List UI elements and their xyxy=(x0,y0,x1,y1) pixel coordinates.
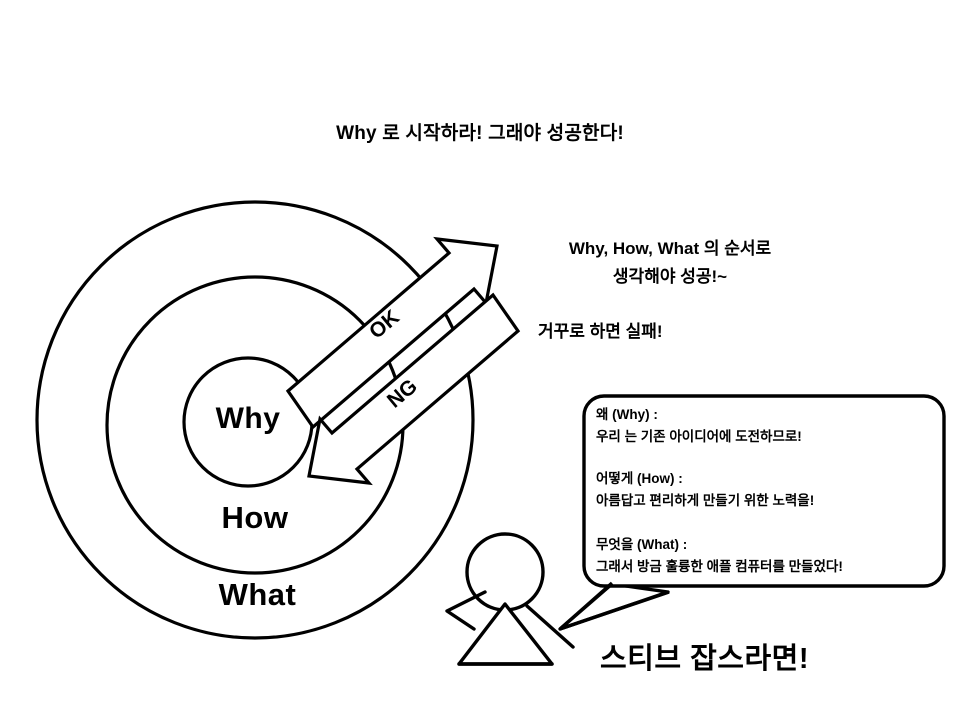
reverse-warning-note: 거꾸로 하면 실패! xyxy=(538,317,663,342)
order-note-line-1: Why, How, What 의 순서로 xyxy=(520,234,820,259)
ring-label-what: What xyxy=(175,577,340,613)
order-note-line-2: 생각해야 성공!~ xyxy=(520,262,820,287)
bubble-line-what-body: 그래서 방금 훌륭한 애플 컴퓨터를 만들었다! xyxy=(596,555,843,575)
caption-steve-jobs: 스티브 잡스라면! xyxy=(600,635,809,677)
bubble-line-why-body: 우리 는 기존 아이디어에 도전하므로! xyxy=(596,425,802,445)
bubble-line-what-title: 무엇을 (What) : xyxy=(596,533,687,553)
bubble-line-how-body: 아름답고 편리하게 만들기 위한 노력을! xyxy=(596,489,814,509)
ring-label-how: How xyxy=(180,500,330,536)
bubble-line-why-title: 왜 (Why) : xyxy=(596,403,658,423)
bubble-line-how-title: 어떻게 (How) : xyxy=(596,467,683,487)
stick-figure-person xyxy=(447,534,573,664)
ring-label-why: Why xyxy=(185,402,311,436)
slide-canvas: Why 로 시작하라! 그래야 성공한다! Why, How, What 의 순… xyxy=(0,0,960,720)
diagram-artwork xyxy=(0,0,960,720)
page-title: Why 로 시작하라! 그래야 성공한다! xyxy=(0,118,960,145)
